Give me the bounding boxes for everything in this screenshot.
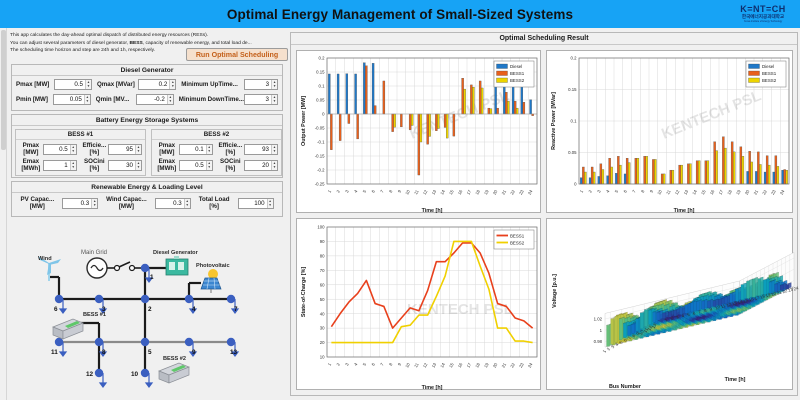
qmax-label: Qmax [MVar] [97,81,138,88]
wind-capacity-label: Wind Capac... [MW] [106,197,147,210]
description-line-2: You can adjust several parameters of die… [10,40,285,48]
svg-text:17: 17 [466,188,473,195]
total-load-value[interactable]: 100 [239,199,267,208]
svg-text:4: 4 [353,361,359,366]
svg-text:17: 17 [466,361,473,368]
bus-label-2: 2 [148,306,152,313]
svg-text:0.15: 0.15 [568,87,577,92]
svg-text:11: 11 [665,188,672,195]
run-optimal-scheduling-button[interactable]: Run Optimal Scheduling [186,48,288,61]
reactive-power-chart: 00.050.10.150.2KENTECH PSL12345678910111… [546,50,793,213]
bess2-emax-label: Emax [MWh] [155,159,179,172]
chevron-down-icon[interactable]: ▼ [169,100,172,103]
svg-text:12: 12 [674,188,681,195]
bess1-socini-stepper[interactable]: 30 ▲▼ [108,160,142,171]
bus-node-7 [227,295,235,303]
chevron-down-icon[interactable]: ▼ [72,150,75,153]
bess1-socini-spinner-arrows[interactable]: ▲▼ [135,161,141,170]
svg-text:5: 5 [362,361,368,366]
svg-text:BESS2: BESS2 [510,241,525,246]
bess1-pmax-value[interactable]: 0.5 [44,145,70,154]
svg-text:24: 24 [527,188,534,195]
svg-text:8: 8 [640,188,646,193]
svg-text:0: 0 [322,112,325,117]
svg-text:24: 24 [779,188,786,195]
bus-label-6: 6 [54,306,58,313]
svg-text:9: 9 [649,188,655,193]
svg-text:21: 21 [753,188,760,195]
bess-panel-body: BESS #1 Pmax [MW] 0.5 ▲▼ Efficie... [%] … [12,126,282,179]
pmax-stepper[interactable]: 0.5 ▲▼ [54,79,92,90]
logo-korean-text: 한국에너지공과대학교 [742,15,784,20]
bus-label-4: 4 [192,306,196,313]
bess2-socini-stepper[interactable]: 20 ▲▼ [244,160,278,171]
svg-text:22: 22 [761,188,768,195]
pmin-spinner-arrows[interactable]: ▲▼ [84,95,90,104]
renewable-panel: Renewable Energy & Loading Level PV Capa… [11,181,283,217]
wind-capacity-stepper[interactable]: 0.3 ▲▼ [155,198,191,209]
svg-text:0.98: 0.98 [594,339,603,344]
total-load-spinner-arrows[interactable]: ▲▼ [267,199,273,208]
bess2-title: BESS #2 [152,130,281,140]
bus-label-12: 12 [86,371,94,378]
bus-label-11: 11 [51,349,58,356]
bess2-socini-spinner-arrows[interactable]: ▲▼ [271,161,277,170]
total-load-stepper[interactable]: 100 ▲▼ [238,198,274,209]
bess1-efficiency-stepper[interactable]: 95 ▲▼ [108,144,142,155]
svg-text:-0.1: -0.1 [317,140,325,145]
svg-text:State-of-Charge [%]: State-of-Charge [%] [301,267,307,318]
bus-label-7: 7 [234,306,238,313]
chevron-down-icon[interactable]: ▼ [273,150,276,153]
svg-text:16: 16 [709,188,716,195]
scrollbar-thumb[interactable] [1,30,6,150]
svg-text:1.02: 1.02 [594,317,603,322]
logo-subtitle-text: Korea Institute of Energy Technology [744,21,782,23]
svg-text:40: 40 [320,311,325,316]
min-downtime-stepper[interactable]: 3 ▲▼ [244,94,278,105]
svg-text:21: 21 [501,188,508,195]
svg-text:10: 10 [404,361,411,368]
svg-text:18: 18 [726,188,733,195]
chevron-down-icon[interactable]: ▼ [93,204,96,207]
bus-node-11 [55,338,63,346]
svg-text:18: 18 [474,361,481,368]
bess2-efficiency-stepper[interactable]: 93 ▲▼ [244,144,278,155]
renewable-panel-body: PV Capac... [MW] 0.3 ▲▼ Wind Capac... [M… [12,193,282,214]
wind-capacity-spinner-arrows[interactable]: ▲▼ [184,199,190,208]
svg-text:11: 11 [413,361,420,368]
bess1-emax-label: Emax [MWh] [19,159,43,172]
bus-node-6 [55,295,63,303]
svg-text:3: 3 [344,188,350,193]
svg-text:13: 13 [431,361,438,368]
svg-text:22: 22 [509,361,516,368]
pv-capacity-label: PV Capac... [MW] [20,197,54,210]
min-downtime-spinner-arrows[interactable]: ▲▼ [271,95,277,104]
bus-node-3 [95,295,103,303]
bess1-subpanel: BESS #1 Pmax [MW] 0.5 ▲▼ Efficie... [%] … [15,129,146,176]
bess2-socini-value[interactable]: 20 [245,161,271,170]
svg-text:15: 15 [448,188,455,195]
qmax-stepper[interactable]: 0.2 ▲▼ [138,79,176,90]
svg-text:12: 12 [422,361,429,368]
chevron-down-icon[interactable]: ▼ [273,85,276,88]
min-downtime-value[interactable]: 3 [245,95,271,104]
output-power-chart: -0.25-0.2-0.15-0.1-0.0500.050.10.150.2KE… [296,50,541,213]
min-uptime-value[interactable]: 3 [245,80,271,89]
photovoltaic-label: Photovoltaic [196,263,230,269]
wind-capacity-value[interactable]: 0.3 [156,199,184,208]
bess2-pmax-spinner-arrows[interactable]: ▲▼ [206,145,212,154]
main-grid-label: Main Grid [81,250,107,256]
bess1-title: BESS #1 [16,130,145,140]
svg-text:0: 0 [574,182,577,187]
pv-capacity-spinner-arrows[interactable]: ▲▼ [91,199,97,208]
left-control-column: This app calculates the day-ahead optima… [7,30,288,398]
bess1-socini-label: SOCini [%] [81,159,108,172]
svg-text:19: 19 [483,361,490,368]
diesel-generator-title: Diesel Generator [12,65,282,76]
chevron-down-icon[interactable]: ▼ [87,85,90,88]
chevron-down-icon[interactable]: ▼ [72,166,75,169]
diesel-generator-icon [166,256,188,275]
pmin-value[interactable]: 0.05 [54,95,84,104]
svg-text:8: 8 [388,188,394,193]
bess1-pmax-label: Pmax [MW] [19,143,43,156]
svg-text:24: 24 [527,361,534,368]
bus-label-3: 3 [102,306,106,313]
bess2-pmax-stepper[interactable]: 0.1 ▲▼ [179,144,213,155]
pv-capacity-value[interactable]: 0.3 [63,199,91,208]
svg-text:5: 5 [614,188,620,193]
svg-text:100: 100 [317,225,325,230]
bess1-efficiency-value[interactable]: 95 [109,145,135,154]
svg-text:21: 21 [501,361,508,368]
chevron-down-icon[interactable]: ▼ [86,100,89,103]
bess2-efficiency-label: Efficie... [%] [217,143,244,156]
svg-text:20: 20 [320,340,325,345]
svg-text:BESS2: BESS2 [510,78,525,83]
bess2-label: BESS #2 [163,356,186,362]
diesel-generator-label: Diesel Generator [153,250,199,256]
bus-node-4 [185,295,193,303]
bess2-icon [159,363,189,383]
page-title: Optimal Energy Management of Small-Sized… [227,7,573,22]
svg-text:60: 60 [320,282,325,287]
svg-text:Voltage [p.u.]: Voltage [p.u.] [552,274,558,308]
svg-text:3: 3 [596,188,602,193]
diesel-generator-body: Pmax [MW] 0.5 ▲▼ Qmax [MVar] 0.2 ▲▼ Mini… [12,76,282,109]
chevron-down-icon[interactable]: ▼ [137,150,140,153]
svg-text:BESS1: BESS1 [510,71,525,76]
bus-label-1: 1 [150,274,154,281]
svg-text:15: 15 [700,188,707,195]
svg-text:Diesel: Diesel [762,64,774,69]
svg-text:0.2: 0.2 [571,56,578,61]
svg-text:-0.25: -0.25 [315,182,325,187]
svg-text:20: 20 [492,361,499,368]
bess1-pmax-spinner-arrows[interactable]: ▲▼ [70,145,76,154]
svg-text:13: 13 [683,188,690,195]
switch-blade-icon [119,262,130,267]
network-diagram: Wind Main Grid Diesel Generator Photovol… [11,245,283,395]
pmax-value[interactable]: 0.5 [55,80,85,89]
qmin-value[interactable]: -0.2 [137,95,167,104]
chevron-down-icon[interactable]: ▼ [208,166,211,169]
results-column: Optimal Scheduling Result -0.25-0.2-0.15… [290,32,798,398]
svg-text:2: 2 [335,188,341,193]
description-line-1: This app calculates the day-ahead optima… [10,32,285,40]
total-load-label: Total Load [%] [199,197,230,210]
svg-text:30: 30 [320,326,325,331]
qmax-spinner-arrows[interactable]: ▲▼ [169,80,175,89]
svg-text:Output Power [MW]: Output Power [MW] [301,96,307,146]
min-uptime-stepper[interactable]: 3 ▲▼ [244,79,278,90]
svg-text:7: 7 [379,361,385,366]
qmin-label: Qmin [MV... [96,96,136,103]
bus-node-8 [95,338,103,346]
chevron-down-icon[interactable]: ▼ [268,204,271,207]
svg-text:19: 19 [735,188,742,195]
svg-text:17: 17 [718,188,725,195]
svg-text:8: 8 [388,361,394,366]
svg-text:0.05: 0.05 [568,150,577,155]
svg-text:14: 14 [439,361,446,368]
svg-text:0.15: 0.15 [316,70,325,75]
bus-label-8: 8 [102,349,106,356]
bess2-emax-spinner-arrows[interactable]: ▲▼ [206,161,212,170]
bess1-emax-spinner-arrows[interactable]: ▲▼ [70,161,76,170]
svg-text:12: 12 [422,188,429,195]
min-uptime-spinner-arrows[interactable]: ▲▼ [271,80,277,89]
svg-text:20: 20 [492,188,499,195]
svg-text:0.05: 0.05 [316,98,325,103]
svg-text:7: 7 [379,188,385,193]
svg-text:Time [h]: Time [h] [674,208,695,214]
optimal-scheduling-result-panel: Optimal Scheduling Result -0.25-0.2-0.15… [290,32,798,396]
chevron-down-icon[interactable]: ▼ [186,204,189,207]
svg-text:1: 1 [579,188,585,193]
bess1-efficiency-spinner-arrows[interactable]: ▲▼ [135,145,141,154]
bess2-efficiency-spinner-arrows[interactable]: ▲▼ [271,145,277,154]
bus-label-9: 9 [192,349,196,356]
svg-text:1: 1 [327,361,333,366]
svg-text:-0.15: -0.15 [315,154,325,159]
bess2-emax-stepper[interactable]: 0.5 ▲▼ [179,160,213,171]
svg-text:16: 16 [457,188,464,195]
bess2-subpanel: BESS #2 Pmax [MW] 0.1 ▲▼ Efficie... [%] … [151,129,282,176]
bus-node-13 [227,338,235,346]
svg-text:BESS1: BESS1 [510,234,525,239]
bess2-pmax-value[interactable]: 0.1 [180,145,206,154]
bus-label-13: 13 [230,349,238,356]
diesel-generator-panel: Diesel Generator Pmax [MW] 0.5 ▲▼ Qmax [… [11,64,283,111]
svg-text:20: 20 [744,188,751,195]
left-scrollbar[interactable] [0,28,7,400]
kentech-logo: K=NT=CH 한국에너지공과대학교 Korea Institute of En… [730,2,796,26]
svg-text:-0.05: -0.05 [315,126,325,131]
svg-text:80: 80 [320,253,325,258]
svg-text:4: 4 [353,188,359,193]
svg-text:Time [h]: Time [h] [422,385,443,391]
voltage-3d-chart: 0.9811.021234567891011121312345678910111… [546,218,793,390]
bus-node-12 [95,369,103,377]
svg-text:6: 6 [370,361,376,366]
svg-text:10: 10 [656,188,663,195]
svg-text:90: 90 [320,239,325,244]
qmin-stepper[interactable]: -0.2 ▲▼ [136,94,174,105]
svg-text:22: 22 [509,188,516,195]
svg-text:Reactive Power [MVar]: Reactive Power [MVar] [551,92,557,150]
pmax-spinner-arrows[interactable]: ▲▼ [85,80,91,89]
svg-text:24: 24 [793,285,800,291]
svg-text:9: 9 [397,188,403,193]
pmin-stepper[interactable]: 0.05 ▲▼ [53,94,91,105]
bus-node-10 [141,369,149,377]
pmax-label: Pmax [MW] [16,81,54,88]
bus-node-1 [141,264,149,272]
bess2-efficiency-value[interactable]: 93 [245,145,271,154]
svg-text:15: 15 [448,361,455,368]
svg-text:1: 1 [600,328,603,333]
svg-text:14: 14 [691,188,698,195]
window-title-bar: Optimal Energy Management of Small-Sized… [0,0,800,28]
bess-panel: Battery Energy Storage Systems BESS #1 P… [11,114,283,178]
bess2-pmax-label: Pmax [MW] [155,143,179,156]
svg-text:3: 3 [344,361,350,366]
svg-text:14: 14 [439,188,446,195]
svg-text:19: 19 [483,188,490,195]
wind-label: Wind [38,256,52,262]
svg-text:23: 23 [770,188,777,195]
svg-text:16: 16 [457,361,464,368]
svg-text:70: 70 [320,268,325,273]
svg-text:2: 2 [587,188,593,193]
chevron-down-icon[interactable]: ▼ [171,85,174,88]
bus-label-5: 5 [148,349,152,356]
svg-text:23: 23 [518,361,525,368]
bess1-emax-value[interactable]: 1 [44,161,70,170]
bess1-emax-stepper[interactable]: 1 ▲▼ [43,160,77,171]
svg-text:23: 23 [518,188,525,195]
chevron-down-icon[interactable]: ▼ [273,100,276,103]
svg-text:13: 13 [431,188,438,195]
min-uptime-label: Minimum UpTime... [181,81,244,88]
switch-terminal-right-icon [130,266,135,271]
qmin-spinner-arrows[interactable]: ▲▼ [167,95,173,104]
bess1-pmax-stepper[interactable]: 0.5 ▲▼ [43,144,77,155]
svg-text:10: 10 [404,188,411,195]
svg-text:0.1: 0.1 [571,119,578,124]
bess-panel-title: Battery Energy Storage Systems [12,115,282,126]
state-of-charge-chart: 102030405060708090100KENTECH PSL12345678… [296,218,541,390]
results-panel-title: Optimal Scheduling Result [291,33,797,45]
chevron-down-icon[interactable]: ▼ [137,166,140,169]
svg-text:18: 18 [474,188,481,195]
qmax-value[interactable]: 0.2 [139,80,169,89]
svg-text:BESS2: BESS2 [762,78,777,83]
renewable-panel-title: Renewable Energy & Loading Level [12,182,282,193]
chevron-down-icon[interactable]: ▼ [208,150,211,153]
svg-text:1: 1 [327,188,333,193]
bess1-icon [53,319,83,339]
svg-text:-0.2: -0.2 [317,168,325,173]
svg-text:50: 50 [320,297,325,302]
svg-text:Diesel: Diesel [510,64,522,69]
logo-main-text: K=NT=CH [740,5,786,14]
min-downtime-label: Minimum DownTime... [179,96,244,103]
chevron-down-icon[interactable]: ▼ [273,166,276,169]
bus-node-9 [185,338,193,346]
bess2-socini-label: SOCini [%] [217,159,244,172]
svg-text:0.1: 0.1 [319,84,326,89]
bess1-socini-value[interactable]: 30 [109,161,135,170]
svg-text:Time [h]: Time [h] [422,208,443,214]
bus-node-5 [141,338,149,346]
svg-text:4: 4 [605,188,611,193]
bus-node-2 [141,295,149,303]
svg-text:11: 11 [413,188,420,195]
svg-text:6: 6 [370,188,376,193]
photovoltaic-icon [201,269,221,293]
svg-text:2: 2 [335,361,341,366]
svg-text:BESS1: BESS1 [762,71,777,76]
bus-label-10: 10 [131,371,139,378]
bess2-emax-value[interactable]: 0.5 [180,161,206,170]
svg-text:10: 10 [320,355,325,360]
svg-text:Time [h]: Time [h] [725,377,746,383]
svg-text:6: 6 [622,188,628,193]
bess1-efficiency-label: Efficie... [%] [81,143,108,156]
svg-text:5: 5 [362,188,368,193]
pmin-label: Pmin [MW] [16,96,53,103]
svg-text:7: 7 [631,188,637,193]
svg-text:0.2: 0.2 [319,56,326,61]
svg-text:Bus Number: Bus Number [609,384,642,390]
pv-capacity-stepper[interactable]: 0.3 ▲▼ [62,198,98,209]
svg-text:9: 9 [397,361,403,366]
